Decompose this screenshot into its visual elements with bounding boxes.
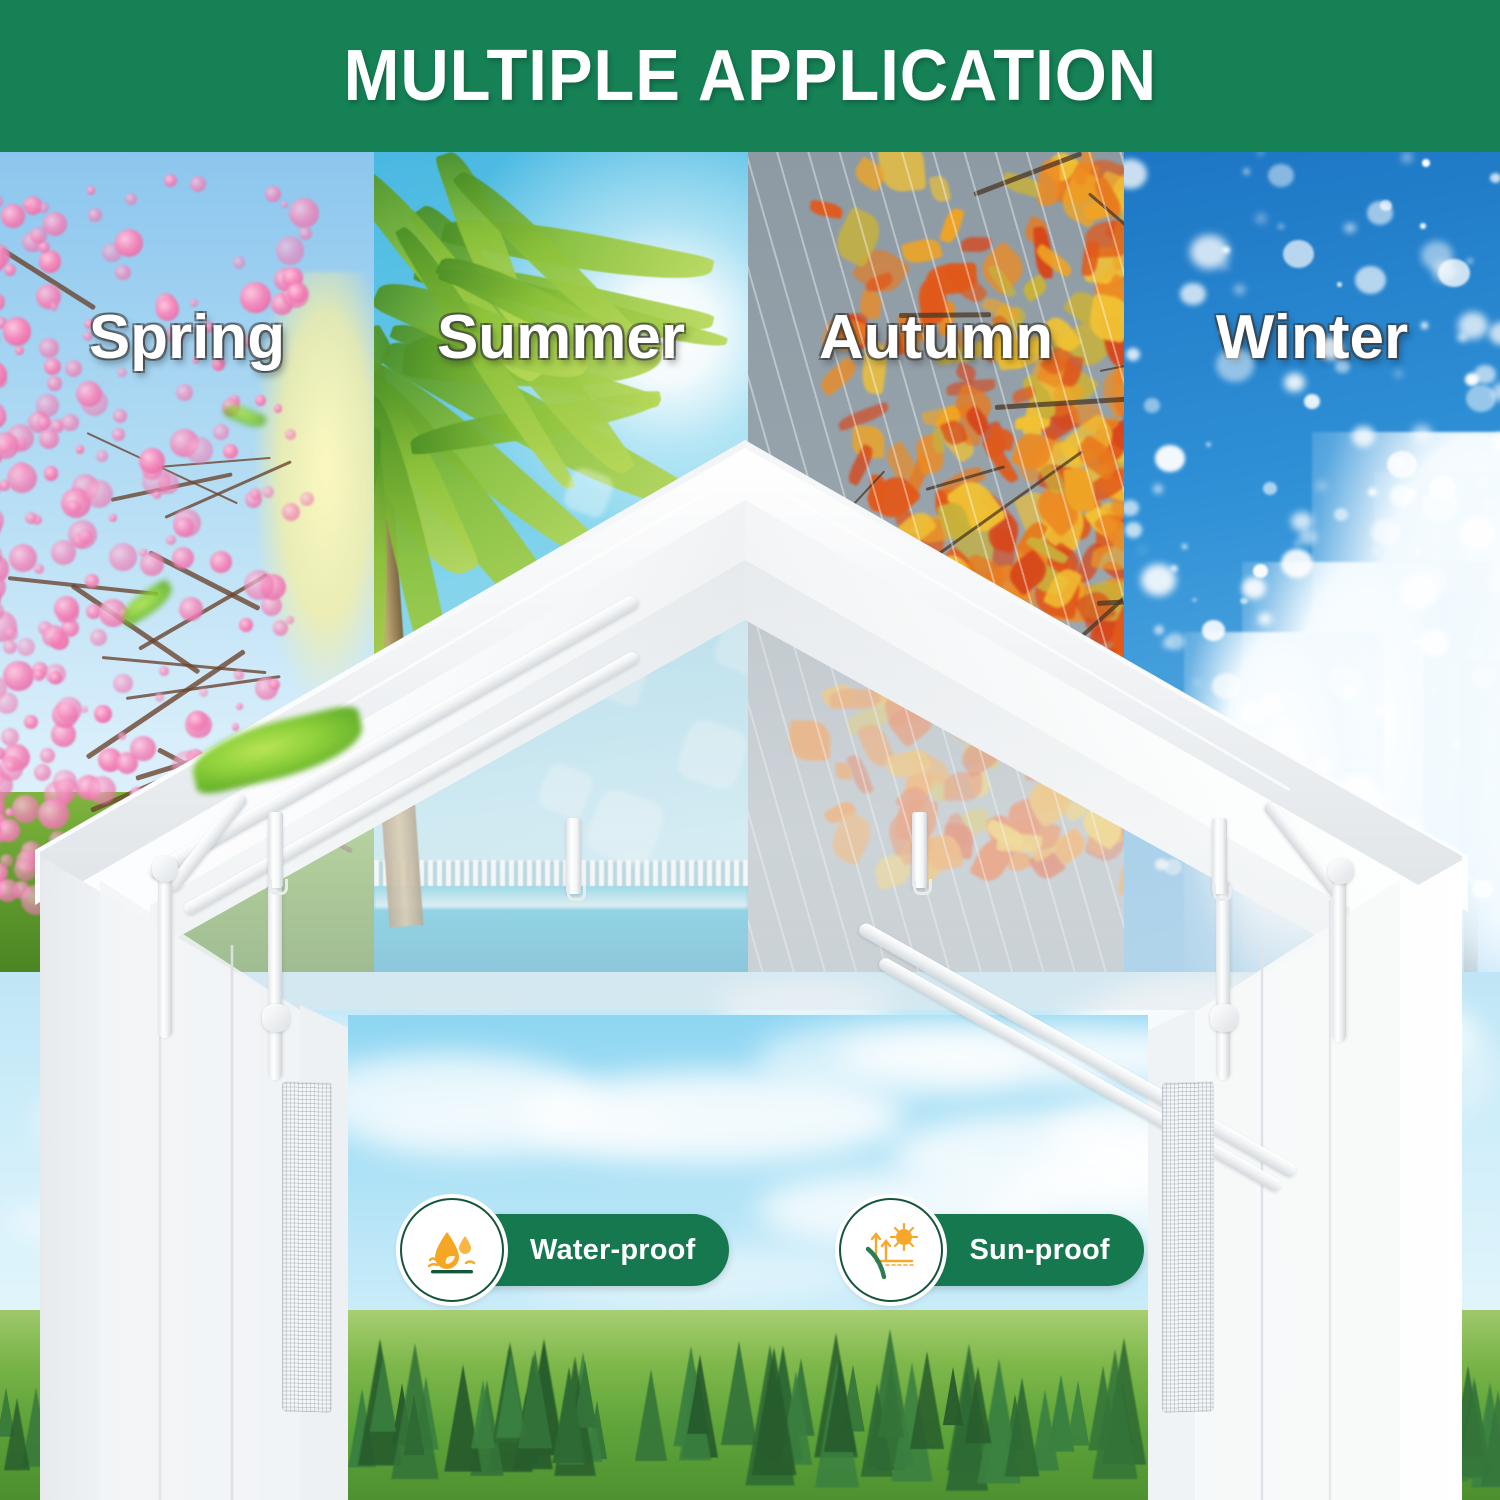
badge-icon-circle-water: [400, 1198, 504, 1302]
badge-sun-proof[interactable]: Sun-proof: [839, 1198, 1143, 1302]
header-banner: MULTIPLE APPLICATION: [0, 0, 1500, 152]
frame-leg-left-outer: [158, 858, 172, 1038]
frame-leg-right-outer: [1332, 862, 1346, 1042]
frame-leg-left-inner: [268, 880, 282, 1080]
canopy-strap-4: [1212, 818, 1227, 894]
frame-joint-left-top: [152, 856, 178, 882]
water-drop-icon: [420, 1218, 484, 1282]
canopy-strap-2: [566, 818, 581, 894]
mesh-window-left: [282, 1081, 332, 1412]
frame-joint-left: [262, 1004, 290, 1032]
sun-ray-icon: [858, 1217, 924, 1283]
badge-label-sun-proof: Sun-proof: [969, 1234, 1109, 1267]
badge-water-proof[interactable]: Water-proof: [400, 1198, 729, 1302]
product-marketing-image: Spring Summer Autumn Winter: [0, 0, 1500, 1500]
page-title: MULTIPLE APPLICATION: [343, 35, 1156, 117]
badge-icon-circle-sun: [839, 1198, 943, 1302]
frame-joint-right-top: [1328, 858, 1354, 884]
badge-label-water-proof: Water-proof: [530, 1234, 695, 1267]
canopy-strap-3: [912, 812, 927, 888]
mesh-window-right: [1162, 1081, 1214, 1412]
frame-joint-right: [1210, 1004, 1238, 1032]
feature-badges: Water-proof Sun-proof: [400, 1198, 1144, 1302]
frame-leg-right-inner: [1216, 880, 1230, 1080]
canopy-strap-1: [268, 812, 283, 888]
